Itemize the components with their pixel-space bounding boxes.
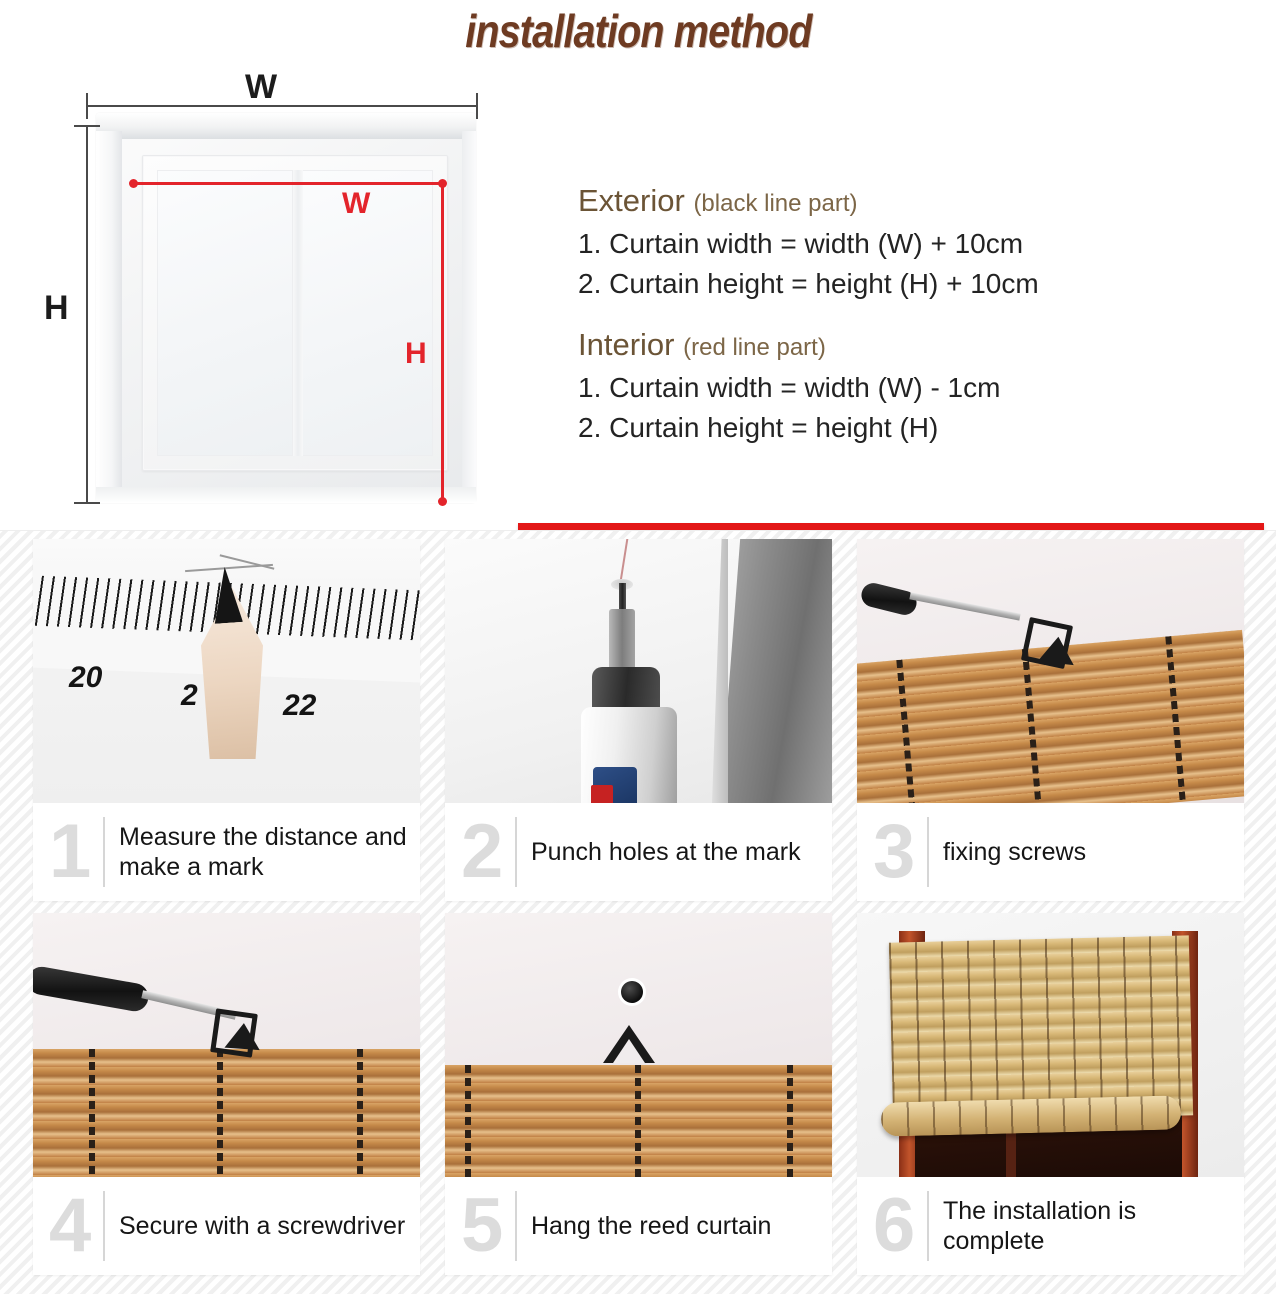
- measurement-section: W H W H Exterior (black line part) 1. Cu…: [0, 62, 1276, 530]
- window-left-reveal: [96, 131, 122, 503]
- reed-cord: [787, 1065, 793, 1177]
- step-divider: [515, 1191, 517, 1261]
- reed-curtain: [445, 1065, 832, 1177]
- screwdriver-bracket-reed-photo: [857, 539, 1244, 803]
- interior-dimension-endpoint-dot: [438, 497, 447, 506]
- interior-width-label: W: [342, 187, 370, 221]
- window-pane-left: [157, 170, 293, 456]
- step-divider: [103, 1191, 105, 1261]
- door-jamb-edge: [712, 539, 728, 803]
- reed-cord: [89, 1049, 95, 1177]
- window-mullion: [293, 170, 303, 456]
- step-text: Punch holes at the mark: [531, 837, 822, 867]
- interior-dimension-endpoint-dot: [129, 179, 138, 188]
- page-title: installation method: [465, 4, 811, 58]
- window-bottom-reveal: [96, 487, 476, 503]
- finished-install-scene: [857, 913, 1244, 1177]
- window-right-reveal: [462, 131, 476, 503]
- ruler-mark-21: 2: [181, 679, 198, 713]
- step-caption: 2 Punch holes at the mark: [445, 803, 832, 901]
- step-card: 6 The installation is complete: [857, 913, 1244, 1275]
- reed-cord: [1165, 636, 1185, 802]
- ruler-mark-22: 22: [283, 689, 316, 723]
- step-number: 1: [49, 821, 97, 883]
- step-caption: 6 The installation is complete: [857, 1177, 1244, 1275]
- triangle-hook-inner: [613, 1039, 645, 1063]
- interior-rule-2: 2. Curtain height = height (H): [578, 408, 1268, 448]
- step-text: The installation is complete: [943, 1196, 1234, 1256]
- step-card: 4 Secure with a screwdriver: [33, 913, 420, 1275]
- screwdriver-handle: [33, 965, 151, 1014]
- step-divider: [927, 1191, 929, 1261]
- step-divider: [515, 817, 517, 887]
- triangle-hook-icon: [224, 1022, 261, 1050]
- drill-trigger: [591, 785, 613, 803]
- interior-height-dimension-line: [441, 182, 444, 502]
- screw-and-hook-photo: [445, 913, 832, 1177]
- reed-cord: [896, 660, 916, 803]
- door-jamb: [720, 539, 832, 803]
- window-top-reveal: [96, 113, 476, 139]
- step-number: 2: [461, 821, 509, 883]
- installation-steps-section: 20 2 22 1 Measure the distance and make …: [0, 530, 1276, 1294]
- step-caption: 3 fixing screws: [857, 803, 1244, 901]
- instructions-spacer: [578, 304, 1268, 324]
- step-number: 4: [49, 1195, 97, 1257]
- exterior-height-label: H: [44, 289, 69, 328]
- step-caption: 1 Measure the distance and make a mark: [33, 803, 420, 901]
- installation-steps-grid: 20 2 22 1 Measure the distance and make …: [33, 539, 1243, 1275]
- window-sash: [142, 155, 448, 471]
- screwdriver-shaft: [909, 592, 1020, 620]
- exterior-heading: Exterior (black line part): [578, 180, 1268, 222]
- exterior-rule-1: 1. Curtain width = width (W) + 10cm: [578, 224, 1268, 264]
- exterior-rule-2: 2. Curtain height = height (H) + 10cm: [578, 264, 1268, 304]
- window-frame: [96, 113, 476, 503]
- exterior-width-dimension-line: [86, 105, 478, 107]
- window-measurement-diagram: W H W H: [30, 67, 510, 527]
- interior-dimension-endpoint-dot: [438, 179, 447, 188]
- step-number: 3: [873, 821, 921, 883]
- ruler-and-pencil-photo: 20 2 22: [33, 539, 420, 803]
- exterior-width-label: W: [245, 68, 277, 107]
- reed-cord: [1022, 649, 1042, 803]
- ruler-scene: 20 2 22: [33, 539, 420, 803]
- interior-rule-1: 1. Curtain width = width (W) - 1cm: [578, 368, 1268, 408]
- sizing-instructions: Exterior (black line part) 1. Curtain wi…: [578, 180, 1268, 448]
- step-divider: [927, 817, 929, 887]
- reed-blind: [889, 935, 1193, 1122]
- step-caption: 4 Secure with a screwdriver: [33, 1177, 420, 1275]
- screwdriver-securing-reed-photo: [33, 913, 420, 1177]
- interior-heading: Interior (red line part): [578, 324, 1268, 366]
- installed-reed-curtain-photo: [857, 913, 1244, 1177]
- exterior-heading-note: (black line part): [693, 190, 857, 217]
- step-card: 2 Punch holes at the mark: [445, 539, 832, 901]
- hook-scene: [445, 913, 832, 1177]
- step-divider: [103, 817, 105, 887]
- exterior-height-dimension-line: [86, 125, 88, 504]
- interior-heading-note: (red line part): [683, 334, 826, 361]
- step-number: 5: [461, 1195, 509, 1257]
- reed-cord: [635, 1065, 641, 1177]
- reed-curtain: [33, 1049, 420, 1177]
- step-number: 6: [873, 1195, 921, 1257]
- screwdriver-scene: [857, 539, 1244, 803]
- step-text: fixing screws: [943, 837, 1234, 867]
- interior-height-label: H: [405, 337, 427, 371]
- step-card: 20 2 22 1 Measure the distance and make …: [33, 539, 420, 901]
- ruler-mark-20: 20: [69, 661, 102, 695]
- screwdriver-scene: [33, 913, 420, 1177]
- reed-cord: [217, 1049, 223, 1177]
- interior-width-dimension-line: [132, 182, 444, 185]
- step-card: 5 Hang the reed curtain: [445, 913, 832, 1275]
- step-text: Secure with a screwdriver: [119, 1211, 410, 1241]
- step-caption: 5 Hang the reed curtain: [445, 1177, 832, 1275]
- power-drill-photo: [445, 539, 832, 803]
- page-header: installation method: [0, 0, 1276, 62]
- drill-chuck: [609, 609, 635, 675]
- reed-cord: [357, 1049, 363, 1177]
- interior-heading-label: Interior: [578, 327, 674, 362]
- step-card: 3 fixing screws: [857, 539, 1244, 901]
- screw-head-icon: [621, 981, 643, 1003]
- reed-cord: [465, 1065, 471, 1177]
- step-text: Hang the reed curtain: [531, 1211, 822, 1241]
- drill-scene: [445, 539, 832, 803]
- triangle-hook-icon: [1038, 635, 1077, 665]
- exterior-heading-label: Exterior: [578, 183, 685, 218]
- step-text: Measure the distance and make a mark: [119, 822, 410, 882]
